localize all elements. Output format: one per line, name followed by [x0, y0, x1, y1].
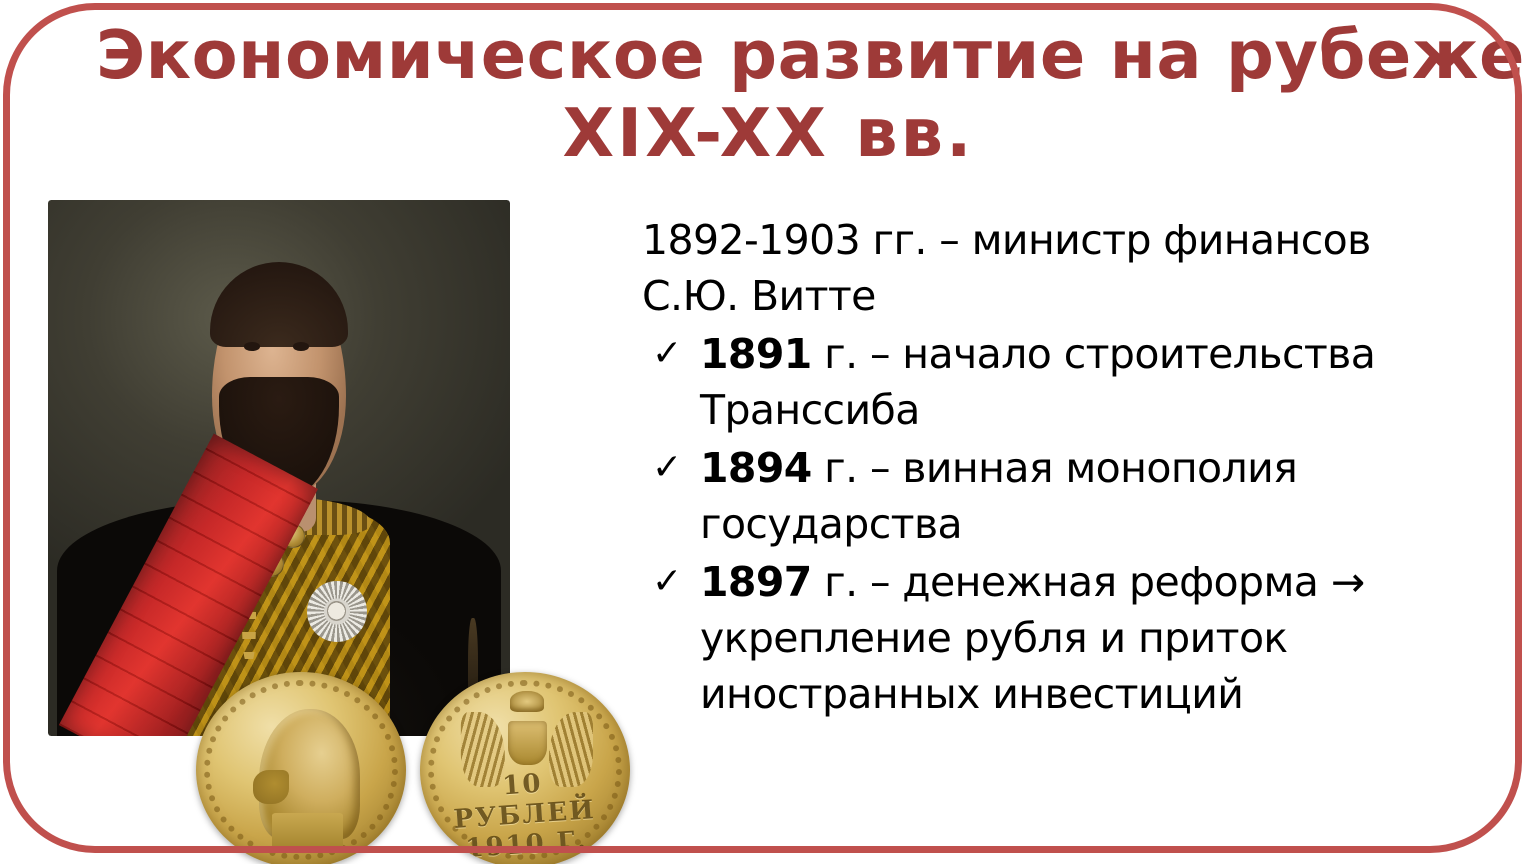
slide-canvas: Экономическое развитие на рубеже XIX-XX … — [0, 0, 1533, 864]
bullet-year: 1891 — [700, 330, 812, 378]
gold-coins-group: 10 РУБЛЕЙ 1910 Г. — [196, 672, 636, 864]
title-line-1: Экономическое развитие на рубеже — [96, 16, 1441, 94]
page-title: Экономическое развитие на рубеже XIX-XX … — [96, 16, 1441, 172]
portrait-witte — [48, 200, 510, 736]
eagle-shield — [508, 721, 547, 765]
coin-denomination-text: 10 РУБЛЕЙ 1910 Г. — [425, 763, 624, 864]
checkmark-icon: ✓ — [652, 326, 682, 382]
bullet-list: ✓ 1891 г. – начало строительства Трансси… — [642, 326, 1462, 722]
coin-obverse-legend — [215, 690, 387, 851]
portrait-eye-left — [244, 342, 260, 351]
list-item: ✓ 1891 г. – начало строительства Трансси… — [642, 326, 1462, 438]
checkmark-icon: ✓ — [652, 554, 682, 610]
coin-obverse-icon — [196, 672, 406, 864]
title-line-2: XIX-XX вв. — [96, 94, 1441, 172]
content-body: 1892-1903 гг. – министр финансов С.Ю. Ви… — [642, 212, 1462, 724]
list-item: ✓ 1897 г. – денежная реформа → укреплени… — [642, 554, 1462, 722]
portrait-order-star-right — [307, 581, 367, 643]
portrait-image — [48, 200, 510, 736]
coin-reverse-icon: 10 РУБЛЕЙ 1910 Г. — [420, 672, 630, 864]
bullet-year: 1897 — [700, 558, 812, 606]
lead-paragraph: 1892-1903 гг. – министр финансов С.Ю. Ви… — [642, 212, 1462, 324]
list-item: ✓ 1894 г. – винная монополия государства — [642, 440, 1462, 552]
eagle-crown — [510, 691, 544, 712]
portrait-eye-right — [293, 342, 309, 351]
bullet-year: 1894 — [700, 444, 812, 492]
checkmark-icon: ✓ — [652, 440, 682, 496]
portrait-hair — [210, 262, 349, 348]
